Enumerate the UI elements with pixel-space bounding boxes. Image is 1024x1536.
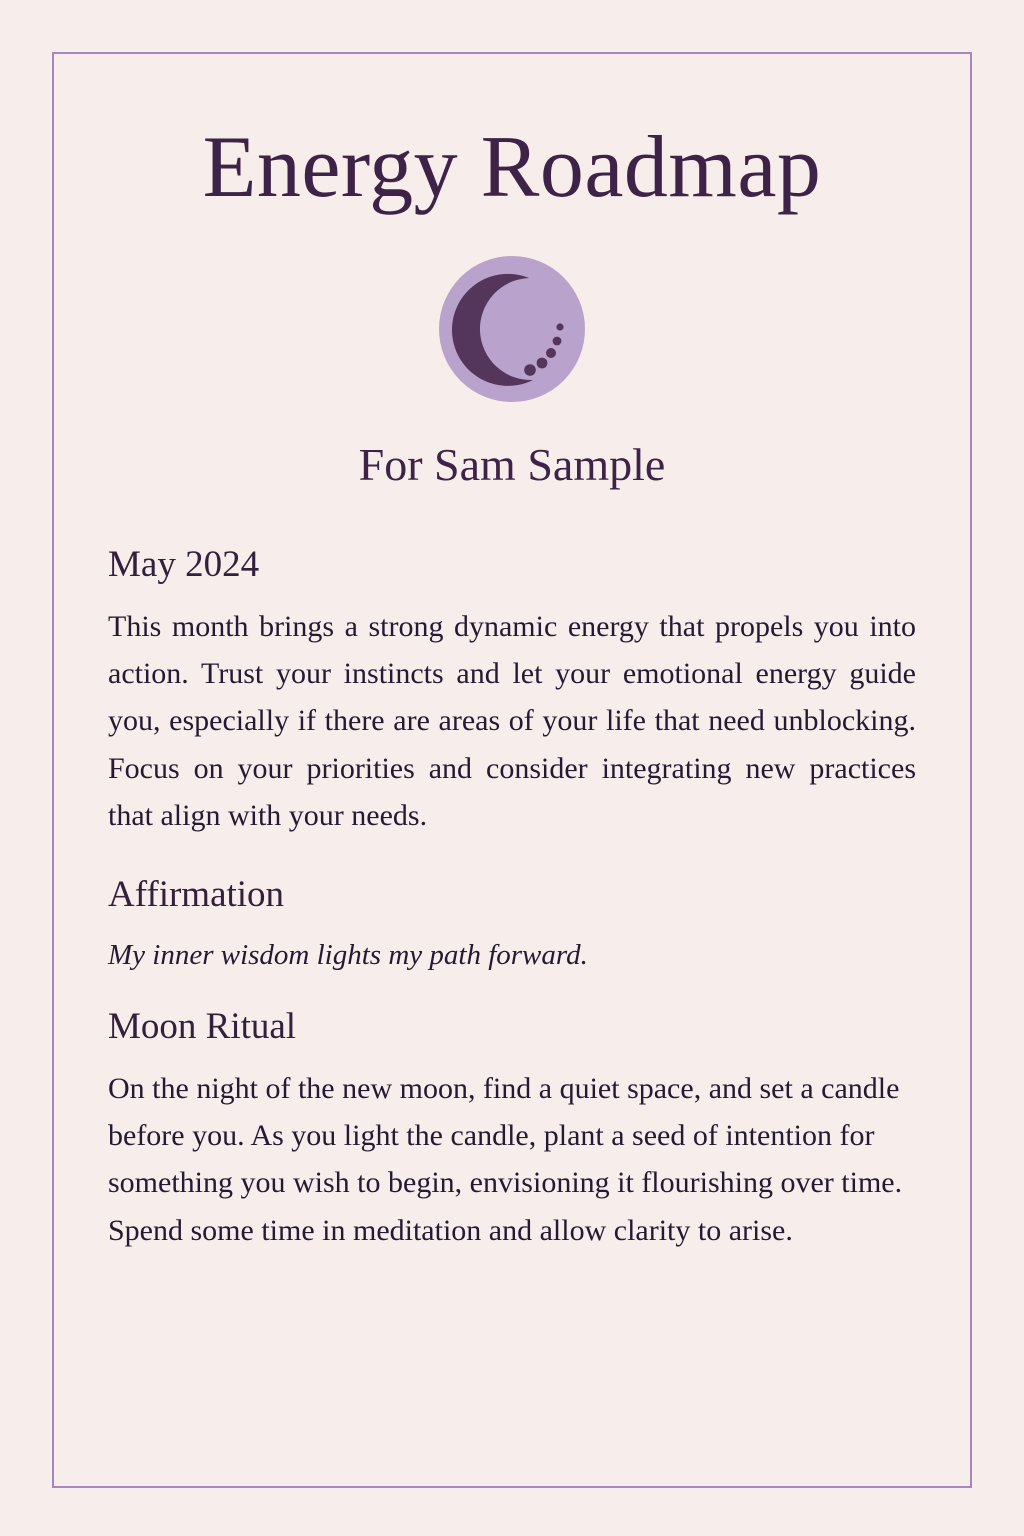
section-heading-month: May 2024 [108,544,916,587]
section-affirmation: Affirmation My inner wisdom lights my pa… [108,874,916,977]
section-heading-affirmation: Affirmation [108,874,916,917]
page-title: Energy Roadmap [108,52,916,212]
section-body-moon-ritual: On the night of the new moon, find a qui… [108,1065,916,1255]
section-heading-moon-ritual: Moon Ritual [108,1006,916,1049]
affirmation-text: My inner wisdom lights my path forward. [108,934,916,976]
section-month: May 2024 This month brings a strong dyna… [108,544,916,840]
section-moon-ritual: Moon Ritual On the night of the new moon… [108,1006,916,1254]
section-body-month: This month brings a strong dynamic energ… [108,603,916,840]
page-subtitle: For Sam Sample [108,404,916,488]
crescent-moon-icon [437,254,587,404]
moon-icon-container [108,254,916,404]
energy-roadmap-page: Energy Roadmap For Sam Sample May 2024 T… [0,0,1024,1536]
sections-container: May 2024 This month brings a strong dyna… [108,488,916,1254]
page-content: Energy Roadmap For Sam Sample May 2024 T… [52,52,972,1488]
